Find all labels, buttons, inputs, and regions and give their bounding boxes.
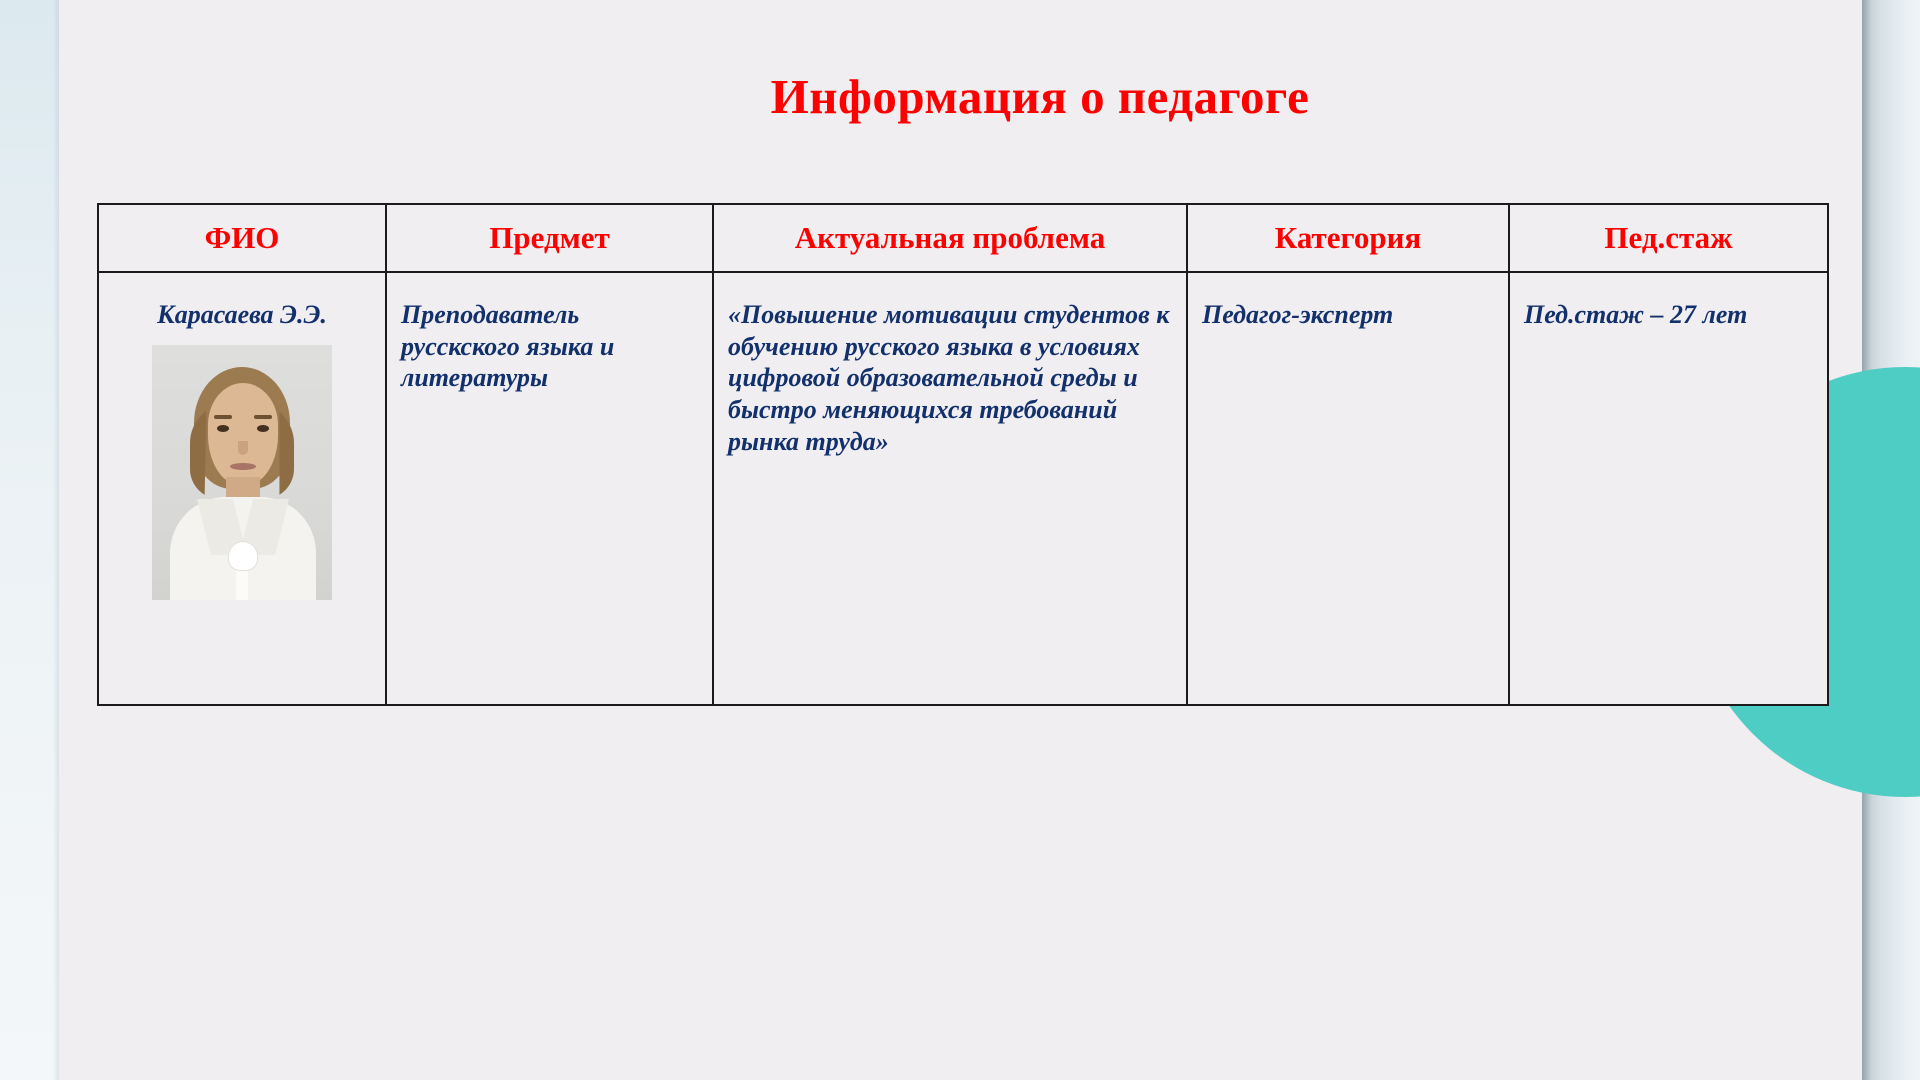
page-title-text: Информация о педагоге [771, 68, 1310, 125]
column-header-subject: Предмет [386, 204, 713, 272]
table-body: Карасаева Э.Э. [98, 272, 1828, 705]
column-header-problem: Актуальная проблема [713, 204, 1187, 272]
page-title: Информация о педагоге [0, 68, 1862, 125]
cell-subject: Преподаватель русскского языка и литерат… [386, 272, 713, 705]
cell-fio: Карасаева Э.Э. [98, 272, 386, 705]
column-header-fio: ФИО [98, 204, 386, 272]
table-header: ФИО Предмет Актуальная проблема Категори… [98, 204, 1828, 272]
table-row: Карасаева Э.Э. [98, 272, 1828, 705]
cell-experience: Пед.стаж – 27 лет [1509, 272, 1828, 705]
slide-canvas: history Информация о педагоге ФИО Предме… [0, 0, 1920, 1080]
teacher-info-table: ФИО Предмет Актуальная проблема Категори… [97, 203, 1829, 706]
column-header-category: Категория [1187, 204, 1509, 272]
teacher-photo [152, 345, 332, 600]
table-header-row: ФИО Предмет Актуальная проблема Категори… [98, 204, 1828, 272]
left-edge-gradient [0, 0, 59, 1080]
cell-problem: «Повышение мотивации студентов к обучени… [713, 272, 1187, 705]
column-header-experience: Пед.стаж [1509, 204, 1828, 272]
teacher-name: Карасаева Э.Э. [113, 299, 371, 331]
cell-category: Педагог-эксперт [1187, 272, 1509, 705]
